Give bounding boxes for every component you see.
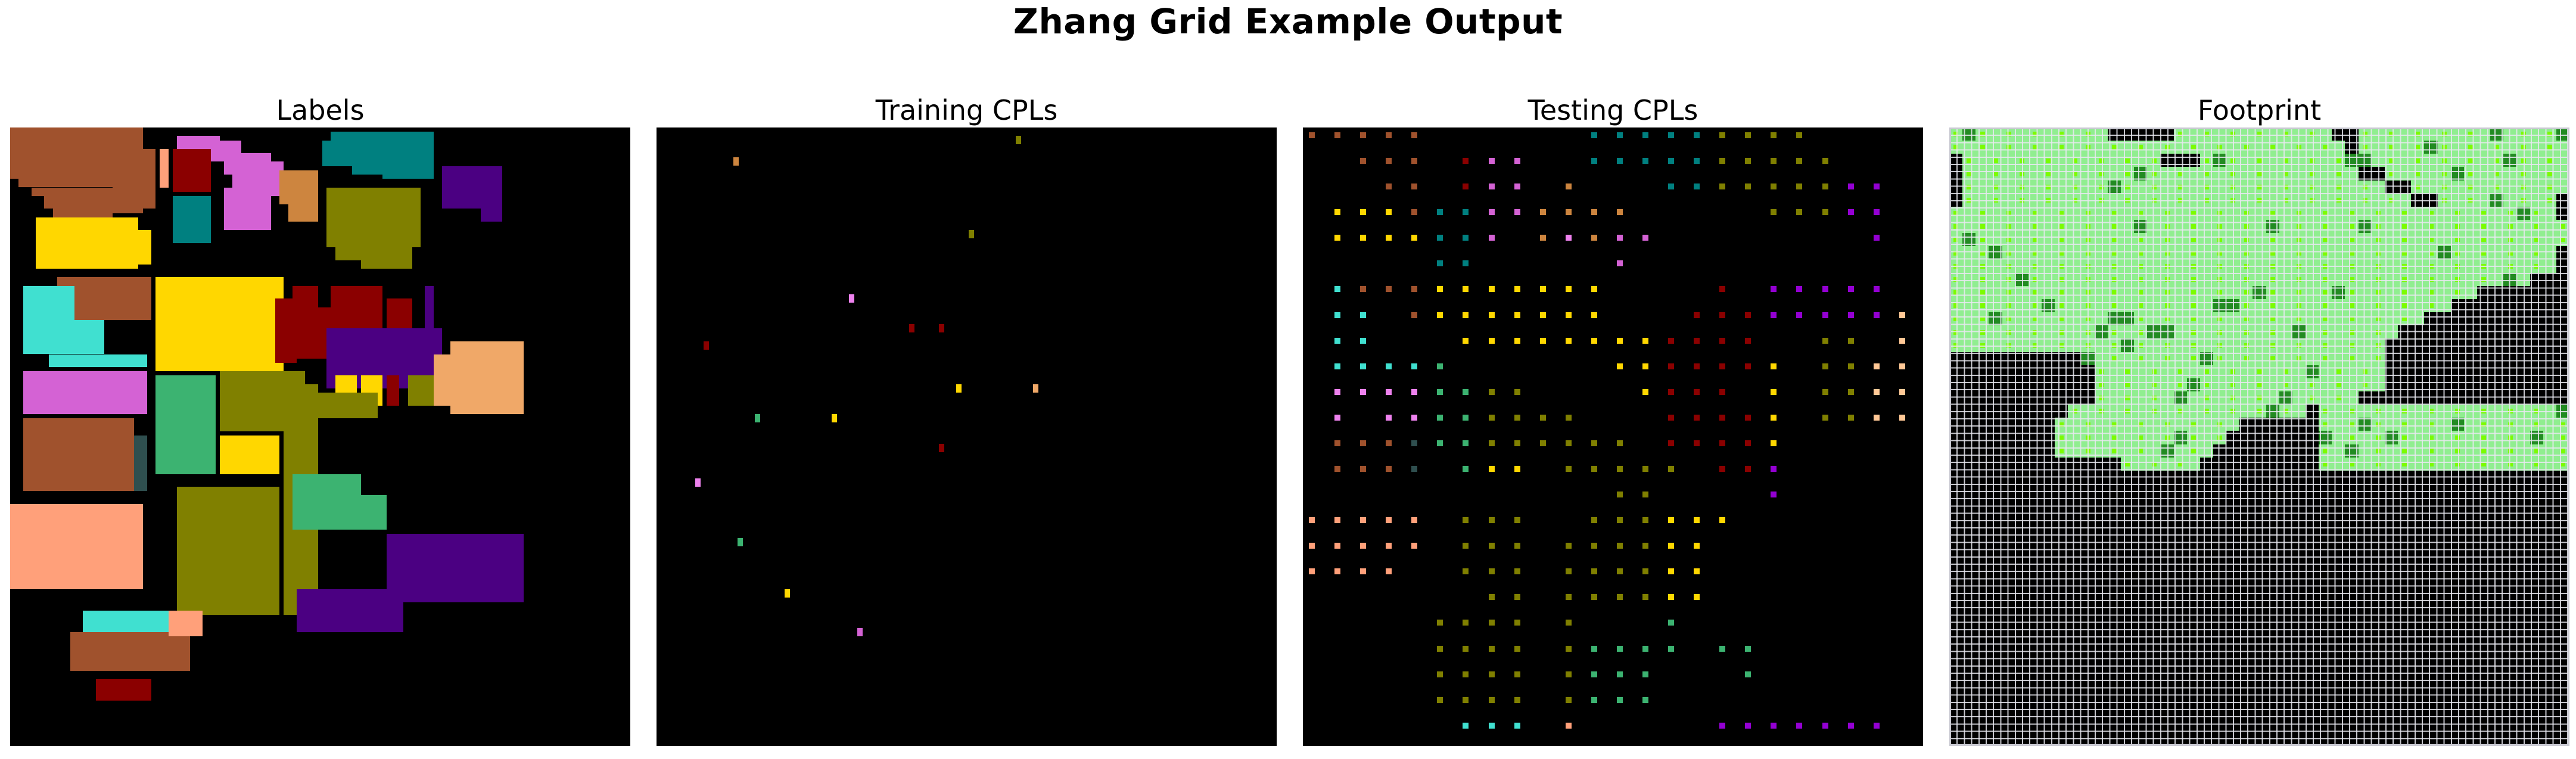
footprint-overlap-cell [2266,405,2279,418]
testing-cpl-marker [1642,363,1648,369]
footprint-center-marker [2270,145,2275,150]
testing-cpl-marker [1719,183,1725,189]
footprint-center-marker [2006,251,2011,256]
testing-cpl-marker [1668,183,1674,189]
testing-cpl-marker [1591,312,1597,318]
footprint-center-marker [2152,198,2157,203]
testing-cpl-marker [1668,543,1674,549]
footprint-center-marker [2561,462,2565,466]
testing-cpl-marker [1540,235,1546,241]
panel-labels: Labels [10,127,630,746]
testing-cpl-marker [1719,517,1725,523]
footprint-center-marker [1980,132,1985,136]
training-cpl-marker [909,324,914,332]
label-region [155,375,216,474]
footprint-center-marker [2402,238,2407,242]
footprint-center-marker [2481,449,2486,453]
testing-cpl-marker [1360,440,1366,446]
footprint-center-marker [2006,303,2011,308]
footprint-center-marker [2257,185,2262,189]
label-region [275,298,297,363]
footprint-overlap-cell [2503,273,2516,286]
footprint-overlap-cell [2095,325,2108,338]
testing-cpl-marker [1617,209,1623,215]
label-region [220,436,280,474]
footprint-center-marker [2429,238,2434,242]
footprint-center-marker [2230,185,2235,189]
testing-cpl-marker [1771,209,1777,215]
footprint-center-marker [2481,462,2486,466]
testing-cpl-marker [1617,260,1623,266]
footprint-center-marker [2323,356,2328,361]
footprint-center-marker [2468,158,2473,163]
footprint-center-marker [1953,145,1958,150]
testing-cpl-marker [1514,594,1520,600]
labels-image[interactable] [10,127,630,746]
testing-cpl-marker [1514,466,1520,472]
footprint-center-marker [2086,132,2090,136]
label-region [293,474,361,530]
footprint-center-marker [2270,330,2275,335]
testing-cpl-marker [1386,286,1392,292]
label-region [331,132,433,166]
testing-cpl-marker [1566,671,1572,677]
footprint-center-marker [2125,158,2130,163]
footprint-center-marker [2561,449,2565,453]
testing-cpl-marker [1719,440,1725,446]
label-region [23,418,135,491]
footprint-center-marker [2125,198,2130,203]
footprint-center-marker [2310,132,2314,136]
testing-cpl-marker [1617,594,1623,600]
footprint-center-marker [2125,369,2130,374]
footprint-center-marker [2508,462,2513,466]
footprint-center-marker [2020,158,2024,163]
testing-cpl-marker [1848,209,1854,215]
footprint-center-marker [2442,198,2447,203]
footprint-center-marker [2389,172,2394,176]
footprint-center-marker [2534,422,2539,427]
testing-cpl-marker [1566,620,1572,626]
footprint-center-marker [2073,172,2077,176]
footprint-center-marker [2376,211,2381,216]
footprint-center-marker [2350,422,2354,427]
footprint-center-marker [2561,238,2565,242]
footprint-center-marker [2112,145,2117,150]
footprint-center-marker [2442,185,2447,189]
footprint-center-marker [2561,436,2565,440]
testing-cpl-marker [1771,132,1777,138]
footprint-center-marker [2033,316,2037,321]
footprint-center-marker [2323,462,2328,466]
footprint-center-marker [2006,290,2011,295]
footprint-center-marker [2059,238,2064,242]
footprint-center-marker [1953,277,1958,282]
footprint-center-marker [1980,251,1985,256]
footprint-center-marker [2323,290,2328,295]
training-cpl-marker [969,230,974,238]
footprint-center-marker [2297,251,2301,256]
testing-cpl-marker [1411,415,1417,421]
footprint-center-marker [2191,436,2196,440]
label-region [318,286,331,307]
footprint-covered-cell [1962,181,2385,194]
label-region [10,166,122,179]
footprint-center-marker [2508,409,2513,413]
footprint-center-marker [2059,145,2064,150]
footprint-center-marker [2020,172,2024,176]
testing-cpl-marker [1566,183,1572,189]
label-region [481,204,502,222]
footprint-center-marker [2230,382,2235,387]
testing-cpl-marker [1566,286,1572,292]
testing-cpl-marker [1463,517,1469,523]
label-region [173,136,177,140]
testing-cpl-marker [1874,415,1880,421]
testing-cpl-marker [1566,312,1572,318]
footprint-overlap-cell [2319,431,2332,444]
footprint-center-marker [2125,185,2130,189]
footprint-center-marker [2494,158,2499,163]
footprint-center-marker [2073,409,2077,413]
footprint-center-marker [2165,343,2170,348]
footprint-overlap-cell [2081,352,2094,365]
footprint-image[interactable] [1949,127,2569,746]
testing-cpl-marker [1642,338,1648,344]
testing-cpl-marker [1668,646,1674,652]
footprint-center-marker [2059,224,2064,229]
footprint-center-marker [2244,145,2249,150]
testing-cpl-marker [1360,543,1366,549]
testing-cpl-marker [1514,183,1520,189]
footprint-center-marker [2020,185,2024,189]
testing-cpl-marker [1617,132,1623,138]
footprint-overlap-cell [2121,312,2134,325]
footprint-center-marker [1980,330,1985,335]
footprint-center-marker [2112,277,2117,282]
testing-cpl-marker [1411,312,1417,318]
testing-cpls-image[interactable] [1303,127,1923,746]
testing-cpl-marker [1642,466,1648,472]
footprint-center-marker [2376,356,2381,361]
footprint-center-marker [2178,172,2183,176]
footprint-center-marker [2006,238,2011,242]
footprint-center-marker [2152,396,2157,400]
footprint-center-marker [2152,462,2157,466]
testing-cpl-marker [1771,415,1777,421]
footprint-center-marker [2138,251,2143,256]
testing-cpl-marker [1411,183,1417,189]
panel-title-testing: Testing CPLs [1303,97,1923,124]
footprint-overlap-cell [2108,181,2121,194]
footprint-center-marker [2402,436,2407,440]
testing-cpl-marker [1463,620,1469,626]
footprint-center-marker [2337,172,2341,176]
footprint-center-marker [2429,422,2434,427]
footprint-center-marker [2086,251,2090,256]
testing-cpl-marker [1566,466,1572,472]
footprint-center-marker [2297,356,2301,361]
label-region [18,179,113,187]
label-region [297,589,403,632]
footprint-center-marker [2376,251,2381,256]
testing-cpl-marker [1694,158,1700,164]
testing-cpl-marker [1489,312,1495,318]
footprint-center-marker [2138,449,2143,453]
footprint-center-marker [2429,277,2434,282]
footprint-overlap-cell [2147,325,2160,338]
footprint-center-marker [2494,145,2499,150]
testing-cpl-marker [1591,466,1597,472]
training-cpl-marker [733,157,739,166]
testing-cpl-marker [1437,671,1443,677]
footprint-center-marker [1980,264,1985,269]
testing-cpl-marker [1874,312,1880,318]
footprint-center-marker [2059,436,2064,440]
testing-cpl-marker [1386,517,1392,523]
testing-cpl-marker [1848,183,1854,189]
testing-cpl-marker [1489,440,1495,446]
testing-cpl-marker [1489,158,1495,164]
testing-cpl-marker [1411,466,1417,472]
footprint-covered-cell [2411,181,2569,194]
testing-cpl-marker [1771,492,1777,497]
testing-cpl-marker [1719,415,1725,421]
testing-cpl-marker [1514,723,1520,729]
footprint-center-marker [2481,251,2486,256]
testing-cpl-marker [1796,286,1802,292]
footprint-center-marker [2455,462,2460,466]
testing-cpl-marker [1694,415,1700,421]
footprint-center-marker [2283,198,2288,203]
footprint-center-marker [1980,238,1985,242]
testing-cpl-marker [1489,338,1495,344]
panel-title-footprint: Footprint [1949,97,2569,124]
testing-cpl-marker [1771,389,1777,395]
footprint-overlap-cell [2451,167,2464,180]
footprint-center-marker [2376,449,2381,453]
testing-cpl-marker [1668,466,1674,472]
footprint-center-marker [2086,238,2090,242]
training-cpl-marker [695,478,701,487]
footprint-covered-cell [1962,194,2411,207]
footprint-center-marker [2125,382,2130,387]
footprint-center-marker [2165,211,2170,216]
footprint-overlap-cell [1962,127,1975,141]
label-region [310,393,378,418]
footprint-covered-cell [1949,286,2477,299]
testing-cpl-marker [1617,492,1623,497]
footprint-center-marker [2217,436,2222,440]
testing-cpl-marker [1514,389,1520,395]
testing-cpl-marker [1489,209,1495,215]
testing-cpl-marker [1411,158,1417,164]
footprint-center-marker [2138,316,2143,321]
footprint-center-marker [1953,251,1958,256]
footprint-center-marker [2297,145,2301,150]
label-region [177,487,279,615]
footprint-center-marker [2086,449,2090,453]
testing-cpl-marker [1309,517,1315,523]
footprint-center-marker [2350,238,2354,242]
footprint-center-marker [1980,277,1985,282]
footprint-center-marker [2376,277,2381,282]
footprint-center-marker [2402,251,2407,256]
footprint-center-marker [2033,277,2037,282]
testing-cpl-marker [1386,415,1392,421]
footprint-center-marker [2112,290,2117,295]
testing-cpl-marker [1719,646,1725,652]
testing-cpl-marker [1386,389,1392,395]
testing-cpl-marker [1514,158,1520,164]
testing-cpl-marker [1437,646,1443,652]
footprint-center-marker [2468,145,2473,150]
testing-cpl-marker [1463,543,1469,549]
footprint-center-marker [2402,449,2407,453]
footprint-center-marker [1993,158,1998,163]
testing-cpl-marker [1334,286,1340,292]
testing-cpl-marker [1360,517,1366,523]
training-cpls-image[interactable] [657,127,1277,746]
testing-cpl-marker [1745,132,1751,138]
footprint-center-marker [2033,132,2037,136]
footprint-center-marker [2191,264,2196,269]
testing-cpl-marker [1360,338,1366,344]
footprint-center-marker [2125,462,2130,466]
footprint-center-marker [2297,224,2301,229]
footprint-center-marker [2389,158,2394,163]
testing-cpl-marker [1463,646,1469,652]
testing-cpl-marker [1848,286,1854,292]
testing-cpl-marker [1668,517,1674,523]
footprint-center-marker [2283,369,2288,374]
footprint-center-marker [2350,330,2354,335]
footprint-center-marker [2165,264,2170,269]
footprint-center-marker [2152,185,2157,189]
footprint-center-marker [2006,224,2011,229]
footprint-overlap-cell [2359,418,2372,431]
footprint-center-marker [2283,409,2288,413]
training-cpl-marker [956,384,962,393]
label-region [361,256,412,269]
footprint-center-marker [2508,224,2513,229]
testing-cpl-marker [1899,363,1905,369]
footprint-center-marker [2086,277,2090,282]
testing-cpl-marker [1386,158,1392,164]
footprint-center-marker [2350,264,2354,269]
testing-cpl-marker [1591,286,1597,292]
testing-cpl-marker [1309,543,1315,549]
testing-cpl-marker [1360,312,1366,318]
testing-cpl-marker [1334,235,1340,241]
footprint-center-marker [2508,238,2513,242]
testing-cpl-marker [1489,389,1495,395]
testing-cpl-marker [1642,517,1648,523]
footprint-center-marker [2350,211,2354,216]
testing-cpl-marker [1719,312,1725,318]
footprint-center-marker [2112,330,2117,335]
footprint-covered-cell [2095,365,2385,378]
footprint-center-marker [2521,145,2526,150]
testing-cpl-marker [1642,492,1648,497]
testing-cpl-marker [1668,568,1674,574]
footprint-overlap-cell [2015,273,2029,286]
footprint-center-marker [2178,185,2183,189]
footprint-covered-cell [1962,154,2160,167]
footprint-center-marker [2204,198,2209,203]
footprint-center-marker [2165,251,2170,256]
testing-cpl-marker [1771,723,1777,729]
footprint-center-marker [2217,316,2222,321]
footprint-center-marker [2257,198,2262,203]
footprint-center-marker [2244,211,2249,216]
footprint-center-marker [2534,449,2539,453]
footprint-center-marker [2138,303,2143,308]
label-region [49,354,147,368]
footprint-center-marker [2323,303,2328,308]
footprint-center-marker [2363,132,2367,136]
testing-cpl-marker [1848,389,1854,395]
testing-cpl-marker [1411,440,1417,446]
footprint-covered-cell [2319,418,2569,431]
footprint-center-marker [2244,316,2249,321]
testing-cpl-marker [1411,235,1417,241]
footprint-center-marker [2217,330,2222,335]
footprint-center-marker [2006,211,2011,216]
footprint-center-marker [2099,409,2104,413]
label-region [169,611,203,636]
footprint-center-marker [2138,277,2143,282]
testing-cpl-marker [1489,286,1495,292]
testing-cpl-marker [1514,646,1520,652]
footprint-center-marker [2350,277,2354,282]
testing-cpl-marker [1566,543,1572,549]
testing-cpl-marker [1796,132,1802,138]
testing-cpl-marker [1514,517,1520,523]
footprint-center-marker [2389,145,2394,150]
testing-cpl-marker [1463,723,1469,729]
footprint-overlap-cell [2279,391,2292,405]
footprint-center-marker [2257,369,2262,374]
footprint-center-marker [2217,343,2222,348]
testing-cpl-marker [1822,363,1828,369]
footprint-center-marker [2297,264,2301,269]
testing-cpl-marker [1463,697,1469,703]
footprint-overlap-cell [2503,154,2516,167]
footprint-overlap-cell [1989,312,2002,325]
footprint-center-marker [2006,132,2011,136]
footprint-center-marker [2323,343,2328,348]
testing-cpl-marker [1566,440,1572,446]
footprint-center-marker [2059,330,2064,335]
footprint-overlap-cell [2438,246,2451,259]
testing-cpl-marker [1796,183,1802,189]
footprint-center-marker [2481,422,2486,427]
label-region [23,371,147,414]
footprint-center-marker [2561,224,2565,229]
footprint-overlap-cell [2516,207,2530,220]
footprint-center-marker [2534,462,2539,466]
footprint-center-marker [1993,172,1998,176]
testing-cpl-marker [1489,620,1495,626]
footprint-center-marker [2086,303,2090,308]
footprint-center-marker [2191,356,2196,361]
testing-cpl-marker [1771,312,1777,318]
testing-cpl-marker [1668,594,1674,600]
testing-cpl-marker [1694,517,1700,523]
testing-cpl-marker [1463,671,1469,677]
training-cpl-marker [704,341,709,350]
